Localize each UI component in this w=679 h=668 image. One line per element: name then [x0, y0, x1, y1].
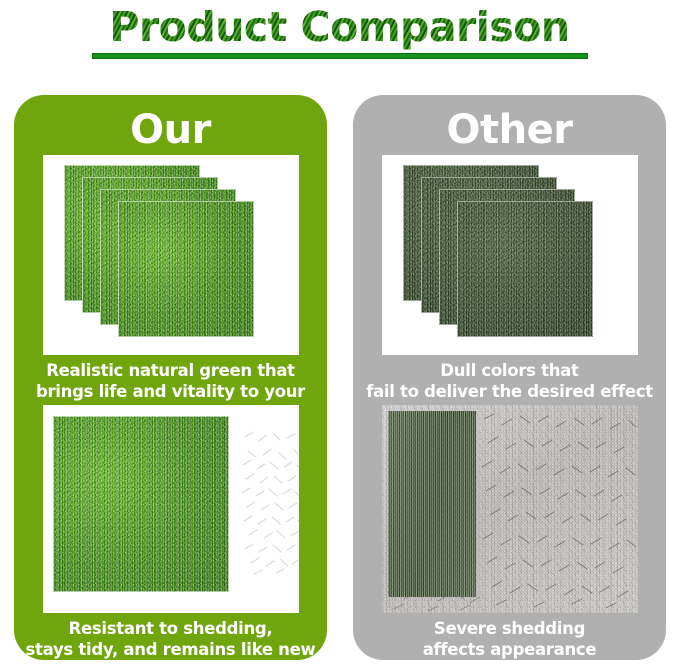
our-bottom-caption: Resistant to shedding, stays tidy, and r…: [20, 618, 321, 660]
shed-fibers-on-mat-edge: [384, 585, 484, 613]
dull-turf-tile-1: [457, 201, 593, 337]
our-top-caption-line1: Realistic natural green that: [20, 360, 321, 381]
dull-turf-mat: [388, 411, 476, 597]
other-top-caption-line1: Dull colors that: [359, 360, 660, 381]
our-bottom-caption-line1: Resistant to shedding,: [20, 618, 321, 639]
our-bottom-image-frame: [43, 405, 299, 613]
panel-our: Our Realistic natural green that brings …: [14, 95, 327, 660]
other-top-caption: Dull colors that fail to deliver the des…: [359, 360, 660, 402]
stacked-dull-turf-tiles: [382, 155, 638, 355]
page-title: Product Comparison: [0, 2, 679, 52]
other-bottom-caption: Severe shedding affects appearance: [359, 618, 660, 660]
title-underline-rule: [92, 53, 588, 59]
panel-our-heading: Our: [14, 107, 327, 153]
turf-mat-minimal-shedding: [43, 405, 299, 613]
our-bottom-caption-line2: stays tidy, and remains like new: [20, 639, 321, 660]
turf-tile-1: [118, 201, 254, 337]
shed-fibers-few: [239, 429, 299, 579]
stacked-green-turf-tiles: [43, 155, 299, 355]
other-top-caption-line2: fail to deliver the desired effect: [359, 381, 660, 402]
turf-mat-severe-shedding: [382, 405, 638, 613]
panel-other: Other Dull colors that fail to deliver t…: [353, 95, 666, 660]
other-bottom-image-frame: [382, 405, 638, 613]
other-bottom-caption-line1: Severe shedding: [359, 618, 660, 639]
shed-fibers-severe: [478, 405, 638, 613]
other-top-image-frame: [382, 155, 638, 355]
panel-other-heading: Other: [353, 107, 666, 153]
other-bottom-caption-line2: affects appearance: [359, 639, 660, 660]
our-top-image-frame: [43, 155, 299, 355]
turf-mat: [53, 416, 229, 592]
page-title-block: Product Comparison: [0, 0, 679, 80]
